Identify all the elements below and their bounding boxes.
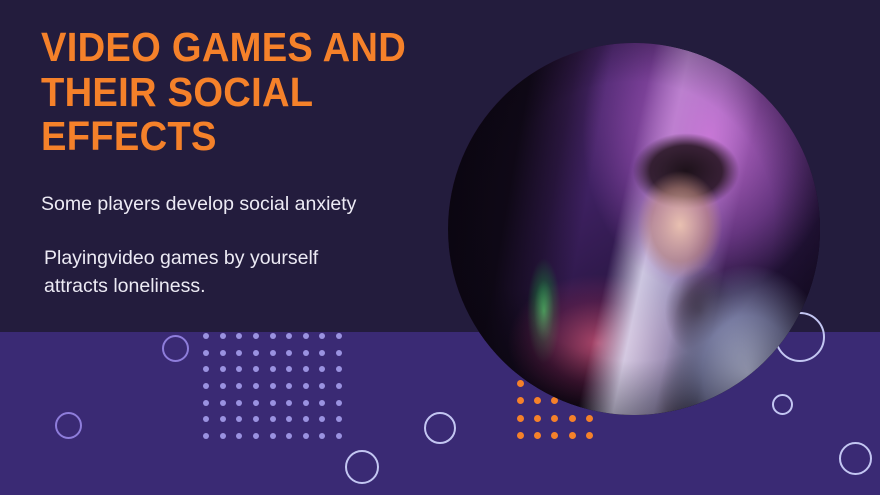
grid-dot <box>236 333 242 339</box>
grid-dot <box>286 350 292 356</box>
grid-dot <box>586 432 593 439</box>
grid-dot <box>336 416 342 422</box>
grid-dot <box>270 400 276 406</box>
grid-dot <box>253 416 259 422</box>
grid-dot <box>319 350 325 356</box>
grid-dot <box>286 383 292 389</box>
grid-dot <box>236 366 242 372</box>
grid-dot <box>303 350 309 356</box>
grid-dot <box>253 366 259 372</box>
grid-dot <box>286 366 292 372</box>
ring-center-mid-icon <box>424 412 456 444</box>
grid-dot <box>236 433 242 439</box>
grid-dot <box>336 383 342 389</box>
grid-dot <box>286 333 292 339</box>
grid-dot <box>551 415 558 422</box>
grid-dot <box>203 350 209 356</box>
grid-dot <box>303 433 309 439</box>
grid-dot <box>336 400 342 406</box>
grid-dot <box>220 366 226 372</box>
grid-dot <box>220 383 226 389</box>
ring-bottom-right-icon <box>839 442 872 475</box>
grid-dot <box>220 433 226 439</box>
grid-dot <box>319 400 325 406</box>
grid-dot <box>203 416 209 422</box>
grid-dot <box>336 366 342 372</box>
grid-dot <box>517 415 524 422</box>
grid-dot <box>220 350 226 356</box>
grid-dot <box>220 333 226 339</box>
grid-dot <box>203 433 209 439</box>
grid-dot <box>534 415 541 422</box>
slide-body-text: Playingvideo games by yourself attracts … <box>44 245 374 300</box>
grid-dot <box>236 416 242 422</box>
grid-dot <box>336 350 342 356</box>
ring-bottom-left-icon <box>55 412 82 439</box>
grid-dot <box>236 350 242 356</box>
grid-dot <box>569 432 576 439</box>
grid-dot <box>586 415 593 422</box>
grid-dot <box>303 333 309 339</box>
grid-dot <box>319 333 325 339</box>
grid-dot <box>303 416 309 422</box>
grid-dot <box>253 350 259 356</box>
grid-dot <box>270 416 276 422</box>
grid-dot <box>253 400 259 406</box>
grid-dot <box>270 366 276 372</box>
grid-dot <box>336 333 342 339</box>
page-title: Video Games And Their Social Effects <box>41 25 413 159</box>
grid-dot <box>303 383 309 389</box>
grid-dot <box>517 432 524 439</box>
ring-left-small-icon <box>162 335 189 362</box>
grid-dot <box>220 400 226 406</box>
grid-dot <box>319 416 325 422</box>
grid-dot <box>336 433 342 439</box>
presentation-slide: Video Games And Their Social Effects Som… <box>0 0 880 495</box>
grid-dot <box>203 400 209 406</box>
gamer-at-computer-photo <box>448 43 820 415</box>
grid-dot <box>303 400 309 406</box>
slide-subtitle: Some players develop social anxiety <box>41 192 441 217</box>
grid-dot <box>319 433 325 439</box>
grid-dot <box>203 333 209 339</box>
grid-dot <box>551 432 558 439</box>
grid-dot <box>534 432 541 439</box>
grid-dot <box>286 433 292 439</box>
grid-dot <box>286 416 292 422</box>
grid-dot <box>569 415 576 422</box>
grid-dot <box>270 383 276 389</box>
grid-dot <box>270 333 276 339</box>
grid-dot <box>319 383 325 389</box>
grid-dot <box>236 400 242 406</box>
grid-dot <box>236 383 242 389</box>
grid-dot <box>303 366 309 372</box>
grid-dot <box>203 383 209 389</box>
grid-dot <box>203 366 209 372</box>
grid-dot <box>286 400 292 406</box>
grid-dot <box>253 383 259 389</box>
grid-dot <box>253 333 259 339</box>
photo-vignette-overlay <box>448 43 820 415</box>
grid-dot <box>270 433 276 439</box>
grid-dot <box>253 433 259 439</box>
dot-grid-purple <box>198 328 347 444</box>
grid-dot <box>270 350 276 356</box>
grid-dot <box>220 416 226 422</box>
grid-dot <box>319 366 325 372</box>
ring-center-low-icon <box>345 450 379 484</box>
